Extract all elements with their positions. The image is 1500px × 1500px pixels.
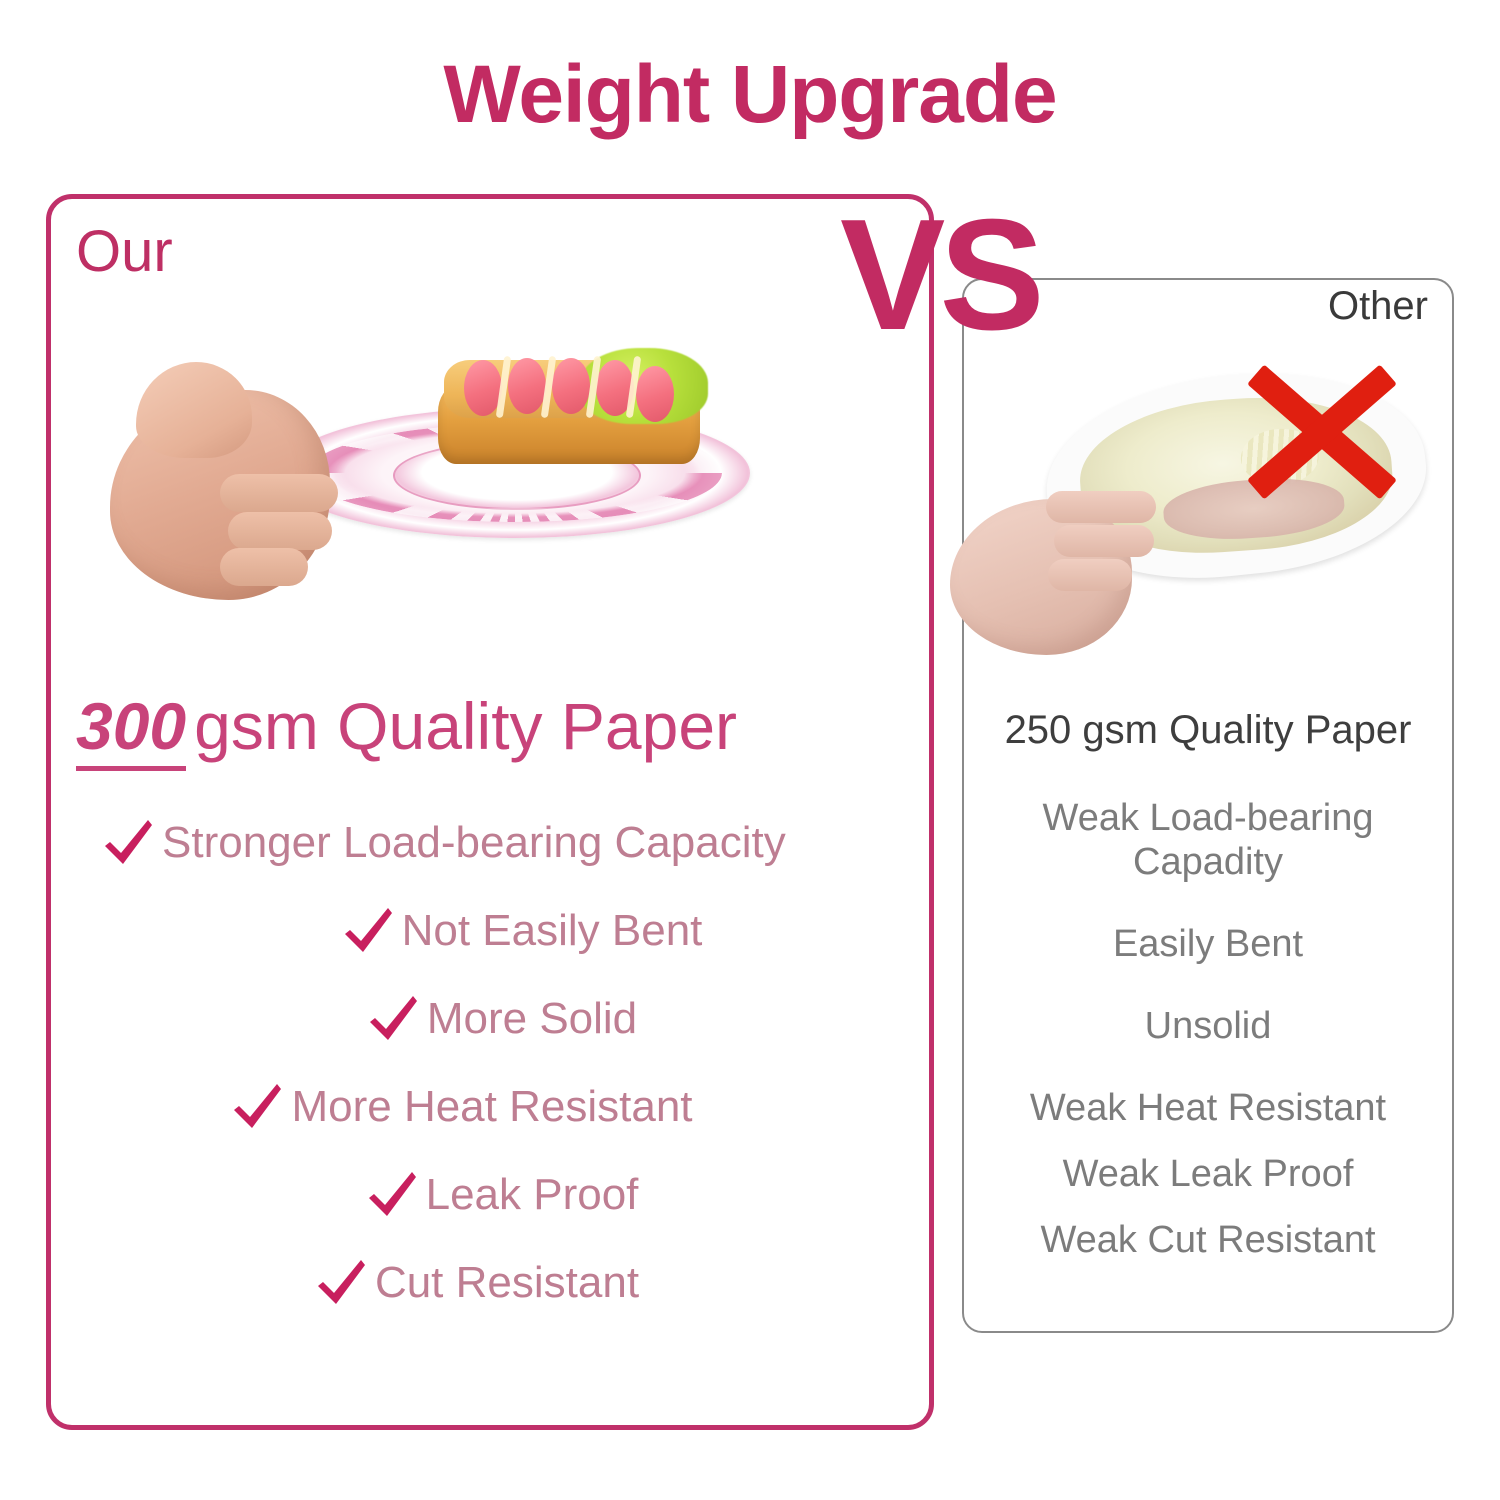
other-feature-item: Easily Bent — [962, 922, 1454, 966]
our-feature-item: Stronger Load-bearing Capacity — [76, 812, 906, 874]
our-heading: 300gsm Quality Paper — [76, 688, 906, 771]
other-feature-item: Unsolid — [962, 1004, 1454, 1048]
our-gsm-value: 300 — [76, 688, 186, 771]
our-feature-item: Leak Proof — [76, 1164, 906, 1226]
our-panel-label: Our — [76, 218, 173, 285]
our-feature-item: Cut Resistant — [76, 1252, 906, 1314]
our-feature-item: More Solid — [76, 988, 906, 1050]
other-feature-item: Weak Load-bearing Capadity — [1008, 796, 1408, 884]
our-hand — [100, 356, 400, 606]
other-feature-item: Weak Leak Proof — [962, 1152, 1454, 1196]
our-feature-label: Not Easily Bent — [402, 906, 703, 956]
other-product-photo — [950, 345, 1460, 655]
comparison-infographic: Weight Upgrade Our 300gsm Qualit — [0, 0, 1500, 1500]
other-feature-list: Weak Load-bearing Capadity Easily Bent U… — [962, 796, 1454, 1285]
our-feature-list: Stronger Load-bearing Capacity Not Easil… — [76, 812, 906, 1340]
our-gsm-unit: gsm Quality Paper — [194, 689, 737, 763]
other-feature-item: Weak Cut Resistant — [962, 1218, 1454, 1262]
check-icon — [365, 991, 421, 1047]
check-icon — [100, 815, 156, 871]
sausage-slice — [552, 358, 590, 414]
our-feature-label: Leak Proof — [426, 1170, 639, 1220]
hand-finger — [220, 548, 308, 586]
our-product-photo — [100, 330, 880, 620]
hand-finger — [220, 474, 338, 512]
our-feature-label: Cut Resistant — [375, 1258, 639, 1308]
x-mark-icon — [1240, 355, 1400, 505]
our-feature-label: More Solid — [427, 994, 637, 1044]
hand-finger — [228, 512, 332, 550]
our-feature-item: Not Easily Bent — [76, 900, 906, 962]
hand-finger — [1046, 491, 1156, 523]
our-feature-label: More Heat Resistant — [291, 1082, 692, 1132]
other-feature-item: Weak Heat Resistant — [962, 1086, 1454, 1130]
hand-finger — [1054, 525, 1154, 557]
our-feature-label: Stronger Load-bearing Capacity — [162, 818, 786, 868]
other-panel-label: Other — [1328, 284, 1428, 329]
our-food-hotdog — [430, 344, 710, 469]
sausage-slice — [508, 358, 546, 414]
other-hand — [950, 471, 1200, 661]
check-icon — [364, 1167, 420, 1223]
vs-label: VS — [840, 196, 1039, 354]
our-feature-item: More Heat Resistant — [76, 1076, 906, 1138]
check-icon — [340, 903, 396, 959]
other-heading: 250 gsm Quality Paper — [962, 708, 1454, 753]
hand-thumb — [136, 362, 252, 458]
page-title: Weight Upgrade — [0, 48, 1500, 142]
check-icon — [313, 1255, 369, 1311]
sausage-slice — [636, 366, 674, 422]
check-icon — [229, 1079, 285, 1135]
hand-finger — [1048, 559, 1132, 591]
